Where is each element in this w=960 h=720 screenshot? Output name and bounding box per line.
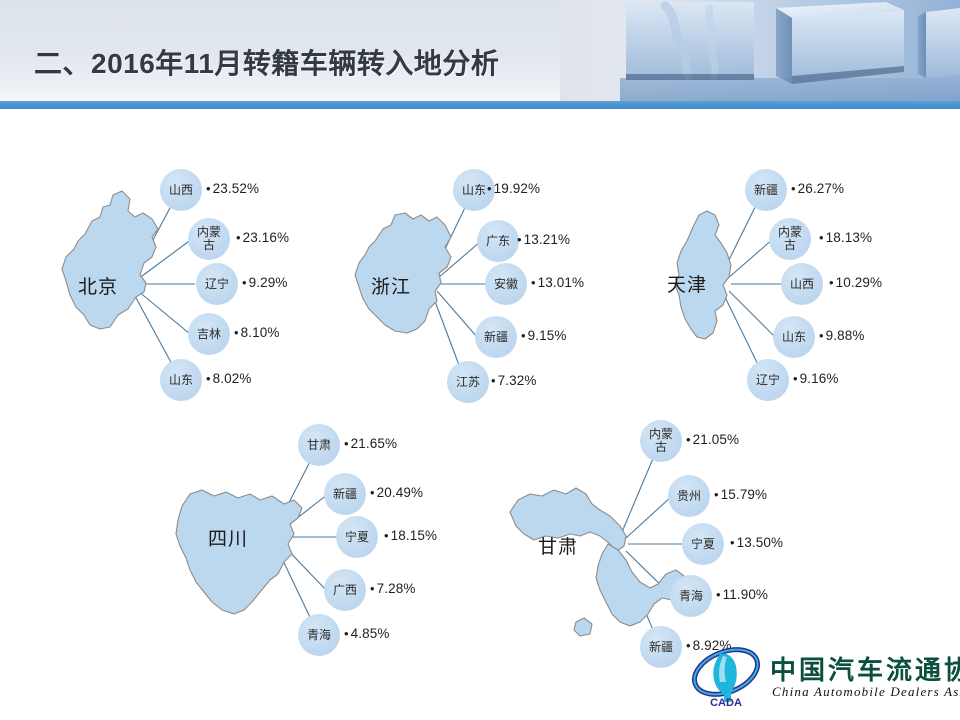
source-node-label: 安徽 bbox=[489, 278, 523, 291]
cluster-center-label: 四川 bbox=[208, 524, 248, 551]
cada-logo-mark: CADA bbox=[690, 646, 762, 708]
page-title: 二、2016年11月转籍车辆转入地分析 bbox=[34, 42, 499, 82]
map-shape-sichuan bbox=[176, 490, 302, 614]
source-node-value: 9.29% bbox=[242, 275, 287, 290]
cada-acronym: CADA bbox=[710, 697, 742, 708]
source-node-label: 青海 bbox=[302, 629, 336, 642]
source-node-label: 新疆 bbox=[328, 488, 362, 501]
source-node-2[interactable]: 内蒙古 bbox=[769, 218, 811, 260]
source-node-value: 7.28% bbox=[370, 581, 415, 596]
source-node-label: 山东 bbox=[777, 331, 811, 344]
source-node-label: 甘肃 bbox=[302, 439, 336, 452]
cada-logo: CADA 中国汽车流通协会 China Automobile Dealers A… bbox=[690, 644, 956, 712]
slide-body: 北京 山西 23.52% 内蒙古 23.16% 辽宁 9.29% 吉林 8.10… bbox=[0, 109, 960, 720]
source-node-value: 23.16% bbox=[236, 230, 289, 245]
cluster-center-label: 天津 bbox=[667, 270, 707, 297]
source-node-label: 贵州 bbox=[672, 490, 706, 503]
source-node-label: 广东 bbox=[481, 235, 515, 248]
source-node-4[interactable]: 山东 bbox=[773, 316, 815, 358]
source-node-value: 13.01% bbox=[531, 275, 584, 290]
source-node-label: 广西 bbox=[328, 584, 362, 597]
source-node-value: 8.10% bbox=[234, 325, 279, 340]
source-node-label: 内蒙古 bbox=[644, 428, 678, 454]
source-node-label: 宁夏 bbox=[686, 538, 720, 551]
source-node-value: 10.29% bbox=[829, 275, 882, 290]
source-node-value: 9.88% bbox=[819, 328, 864, 343]
source-node-value: 8.02% bbox=[206, 371, 251, 386]
source-node-label: 新疆 bbox=[749, 184, 783, 197]
source-node-value: 26.27% bbox=[791, 181, 844, 196]
source-node-label: 青海 bbox=[674, 590, 708, 603]
source-node-label: 新疆 bbox=[479, 331, 513, 344]
header-accent-rule bbox=[0, 101, 960, 109]
slide-header: 二、2016年11月转籍车辆转入地分析 bbox=[0, 0, 960, 101]
cluster-center-label: 浙江 bbox=[371, 272, 411, 299]
source-node-value: 18.13% bbox=[819, 230, 872, 245]
source-node-3[interactable]: 宁夏 bbox=[336, 516, 378, 558]
cluster-zhejiang: 浙江 山东 19.92% 广东 13.21% 安徽 13.01% 新疆 9.15… bbox=[325, 129, 615, 409]
source-node-value: 13.50% bbox=[730, 535, 783, 550]
source-node-value: 9.15% bbox=[521, 328, 566, 343]
source-node-value: 21.05% bbox=[686, 432, 739, 447]
source-node-label: 江苏 bbox=[451, 376, 485, 389]
source-node-1[interactable]: 山西 bbox=[160, 169, 202, 211]
source-node-value: 13.21% bbox=[517, 232, 570, 247]
source-node-label: 内蒙古 bbox=[773, 226, 807, 252]
source-node-value: 18.15% bbox=[384, 528, 437, 543]
cluster-sichuan: 四川 甘肃 21.65% 新疆 20.49% 宁夏 18.15% 广西 7.28… bbox=[160, 394, 470, 684]
cluster-gansu: 甘肃 内蒙古 21.05% 贵州 15.79% 宁夏 13.50% 青海 11.… bbox=[500, 384, 830, 684]
source-node-3[interactable]: 宁夏 bbox=[682, 523, 724, 565]
map-shape-gansu-island bbox=[574, 618, 592, 636]
logo-chinese-name: 中国汽车流通协会 bbox=[770, 650, 960, 687]
source-node-label: 新疆 bbox=[644, 641, 678, 654]
source-node-value: 20.49% bbox=[370, 485, 423, 500]
source-node-label: 辽宁 bbox=[200, 278, 234, 291]
source-node-5[interactable]: 青海 bbox=[298, 614, 340, 656]
source-node-value: 11.90% bbox=[716, 587, 768, 602]
source-node-3[interactable]: 安徽 bbox=[485, 263, 527, 305]
header-decorative-image bbox=[560, 0, 960, 101]
source-node-2[interactable]: 新疆 bbox=[324, 473, 366, 515]
source-node-1[interactable]: 新疆 bbox=[745, 169, 787, 211]
source-node-value: 21.65% bbox=[344, 436, 397, 451]
source-node-4[interactable]: 广西 bbox=[324, 569, 366, 611]
source-node-5[interactable]: 新疆 bbox=[640, 626, 682, 668]
source-node-2[interactable]: 贵州 bbox=[668, 475, 710, 517]
source-node-2[interactable]: 广东 bbox=[477, 220, 519, 262]
source-node-label: 内蒙古 bbox=[192, 226, 226, 252]
source-node-value: 4.85% bbox=[344, 626, 389, 641]
source-node-2[interactable]: 内蒙古 bbox=[188, 218, 230, 260]
map-shape-beijing bbox=[62, 191, 158, 329]
source-node-label: 山东 bbox=[164, 374, 198, 387]
source-node-1[interactable]: 内蒙古 bbox=[640, 420, 682, 462]
source-node-label: 宁夏 bbox=[340, 531, 374, 544]
logo-english-name: China Automobile Dealers Association bbox=[772, 684, 960, 700]
source-node-3[interactable]: 辽宁 bbox=[196, 263, 238, 305]
cluster-beijing: 北京 山西 23.52% 内蒙古 23.16% 辽宁 9.29% 吉林 8.10… bbox=[40, 129, 330, 409]
source-node-1[interactable]: 甘肃 bbox=[298, 424, 340, 466]
cluster-center-label: 甘肃 bbox=[538, 532, 578, 559]
source-node-label: 山西 bbox=[164, 184, 198, 197]
source-node-value: 15.79% bbox=[714, 487, 767, 502]
source-node-3[interactable]: 山西 bbox=[781, 263, 823, 305]
source-node-4[interactable]: 吉林 bbox=[188, 313, 230, 355]
cluster-center-label: 北京 bbox=[78, 272, 118, 299]
source-node-4[interactable]: 青海 bbox=[670, 575, 712, 617]
cluster-tianjin: 天津 新疆 26.27% 内蒙古 18.13% 山西 10.29% 山东 9.8… bbox=[645, 129, 945, 409]
source-node-4[interactable]: 新疆 bbox=[475, 316, 517, 358]
source-node-label: 吉林 bbox=[192, 328, 226, 341]
source-node-value: 19.92% bbox=[487, 181, 540, 196]
source-node-label: 山西 bbox=[785, 278, 819, 291]
source-node-value: 23.52% bbox=[206, 181, 259, 196]
source-node-label: 山东 bbox=[457, 184, 491, 197]
